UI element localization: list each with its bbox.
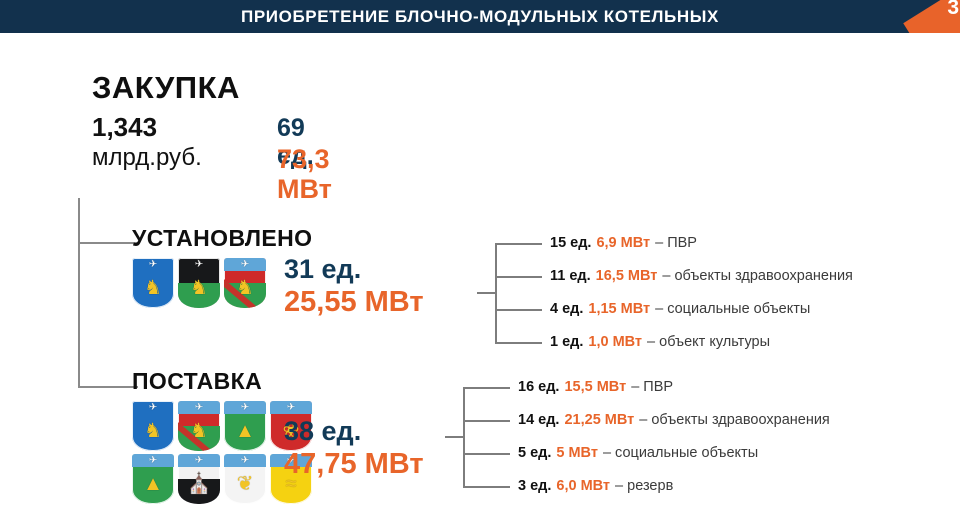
emblem-charge-icon: ❦ — [237, 474, 254, 494]
section-installed-title: УСТАНОВЛЕНО — [132, 227, 452, 250]
detail-description: – социальные объекты — [655, 301, 810, 317]
detail-units: 11 ед. — [550, 268, 591, 284]
detail-description: – социальные объекты — [603, 445, 758, 461]
delivery-units: 38 ед. — [284, 417, 361, 447]
corner-ribbon: 3 — [896, 0, 960, 33]
detail-power: 21,25 МВт — [564, 412, 634, 428]
emblem-charge-icon: ♞ — [236, 278, 254, 298]
coat-of-arms-green-anvil: ✈▲ — [224, 401, 266, 451]
detail-row: 3 ед.6,0 МВт– резерв — [518, 469, 830, 502]
bracket-branch — [495, 243, 542, 245]
left-bracket-spine — [78, 198, 80, 388]
detail-units: 5 ед. — [518, 445, 551, 461]
detail-row: 5 ед.5 МВт– социальные объекты — [518, 436, 830, 469]
emblem-charge-icon: ♞ — [144, 278, 162, 298]
detail-row: 16 ед.15,5 МВт– ПВР — [518, 370, 830, 403]
header-bar: ПРИОБРЕТЕНИЕ БЛОЧНО-МОДУЛЬНЫХ КОТЕЛЬНЫХ … — [0, 0, 960, 33]
detail-units: 1 ед. — [550, 334, 583, 350]
infographic-page: ПРИОБРЕТЕНИЕ БЛОЧНО-МОДУЛЬНЫХ КОТЕЛЬНЫХ … — [0, 0, 960, 531]
detail-power: 1,15 МВт — [588, 301, 650, 317]
eagle-icon: ✈ — [241, 260, 249, 270]
emblem-charge-icon: ♞ — [190, 421, 208, 441]
detail-description: – объекты здравоохранения — [662, 268, 853, 284]
purchase-amount: 1,343 — [92, 113, 157, 142]
detail-row: 11 ед.16,5 МВт– объекты здравоохранения — [550, 259, 853, 292]
bracket-branch — [463, 387, 510, 389]
detail-row: 15 ед.6,9 МВт– ПВР — [550, 226, 853, 259]
coat-of-arms-white-church: ✈⛪ — [178, 454, 220, 504]
purchase-figures: 1,343 млрд.руб. 69 ед. 73,3 МВт — [92, 113, 240, 185]
purchase-block: ЗАКУПКА 1,343 млрд.руб. 69 ед. 73,3 МВт — [92, 72, 240, 185]
detail-list-delivery: 16 ед.15,5 МВт– ПВР14 ед.21,25 МВт– объе… — [518, 370, 830, 502]
coat-of-arms-green-pyramid: ✈▲ — [132, 454, 174, 504]
bracket-stub — [445, 436, 465, 438]
bracket-stub — [477, 292, 497, 294]
corner-ribbon-number: 3 — [947, 0, 959, 20]
left-bracket-arm-installed — [78, 242, 138, 244]
detail-power: 6,9 МВт — [596, 235, 650, 251]
eagle-icon: ✈ — [149, 403, 157, 413]
detail-row: 4 ед.1,15 МВт– социальные объекты — [550, 292, 853, 325]
coat-of-arms-belgorod-city: ✈♞ — [178, 258, 220, 308]
purchase-title: ЗАКУПКА — [92, 72, 240, 103]
eagle-icon: ✈ — [195, 260, 203, 270]
detail-units: 3 ед. — [518, 478, 551, 494]
emblem-charge-icon: ♞ — [190, 278, 208, 298]
eagle-icon: ✈ — [287, 403, 295, 413]
coat-of-arms-red-green-bend: ✈♞ — [178, 401, 220, 451]
bracket-branch — [463, 486, 510, 488]
left-bracket-arm-delivery — [78, 386, 138, 388]
detail-power: 15,5 МВт — [564, 379, 626, 395]
detail-power: 6,0 МВт — [556, 478, 610, 494]
purchase-power: 73,3 МВт — [277, 144, 332, 204]
detail-power: 5 МВт — [556, 445, 598, 461]
emblem-charge-icon: ♞ — [144, 421, 162, 441]
emblem-charge-icon: ▲ — [235, 421, 255, 441]
bracket-branch — [495, 309, 542, 311]
emblem-charge-icon: ▲ — [143, 474, 163, 494]
detail-units: 4 ед. — [550, 301, 583, 317]
detail-units: 15 ед. — [550, 235, 591, 251]
detail-row: 14 ед.21,25 МВт– объекты здравоохранения — [518, 403, 830, 436]
emblem-charge-icon: ⛪ — [187, 474, 212, 494]
coat-of-arms-belgorod-oblast: ✈♞ — [132, 258, 174, 308]
purchase-amount-unit: млрд.руб. — [92, 145, 202, 172]
coat-of-arms-white-apples: ✈❦ — [224, 454, 266, 504]
detail-list-installed: 15 ед.6,9 МВт– ПВР11 ед.16,5 МВт– объект… — [550, 226, 853, 358]
coat-of-arms-blue-lion: ✈♞ — [132, 401, 174, 451]
section-delivery: ПОСТАВКА ✈♞✈♞✈▲✈❀✈▲✈⛪✈❦✈≈ 38 ед. 47,75 М… — [132, 370, 462, 509]
detail-row: 1 ед.1,0 МВт– объект культуры — [550, 325, 853, 358]
detail-description: – резерв — [615, 478, 673, 494]
eagle-icon: ✈ — [241, 456, 249, 466]
section-installed: УСТАНОВЛЕНО ✈♞✈♞✈♞ 31 ед. 25,55 МВт — [132, 227, 452, 320]
eagle-icon: ✈ — [149, 456, 157, 466]
detail-description: – объект культуры — [647, 334, 770, 350]
bracket-branch — [495, 276, 542, 278]
detail-units: 14 ед. — [518, 412, 559, 428]
bracket-branch — [463, 453, 510, 455]
page-title: ПРИОБРЕТЕНИЕ БЛОЧНО-МОДУЛЬНЫХ КОТЕЛЬНЫХ — [0, 0, 960, 33]
eagle-icon: ✈ — [195, 403, 203, 413]
bracket-branch — [463, 420, 510, 422]
left-connector-bracket — [78, 198, 140, 388]
detail-power: 1,0 МВт — [588, 334, 642, 350]
delivery-power: 47,75 МВт — [284, 449, 424, 481]
installed-power: 25,55 МВт — [284, 287, 424, 319]
bracket-branch — [495, 342, 542, 344]
section-delivery-body: ✈♞✈♞✈▲✈❀✈▲✈⛪✈❦✈≈ 38 ед. 47,75 МВт — [132, 401, 462, 509]
detail-power: 16,5 МВт — [596, 268, 658, 284]
coat-of-arms-district-red-green: ✈♞ — [224, 258, 266, 308]
detail-description: – объекты здравоохранения — [639, 412, 830, 428]
eagle-icon: ✈ — [149, 260, 157, 270]
detail-description: – ПВР — [655, 235, 697, 251]
detail-units: 16 ед. — [518, 379, 559, 395]
emblem-row-installed: ✈♞✈♞✈♞ — [132, 258, 282, 311]
installed-units: 31 ед. — [284, 255, 361, 285]
eagle-icon: ✈ — [195, 456, 203, 466]
eagle-icon: ✈ — [241, 403, 249, 413]
section-delivery-title: ПОСТАВКА — [132, 370, 462, 393]
detail-description: – ПВР — [631, 379, 673, 395]
section-installed-body: ✈♞✈♞✈♞ 31 ед. 25,55 МВт — [132, 258, 452, 320]
